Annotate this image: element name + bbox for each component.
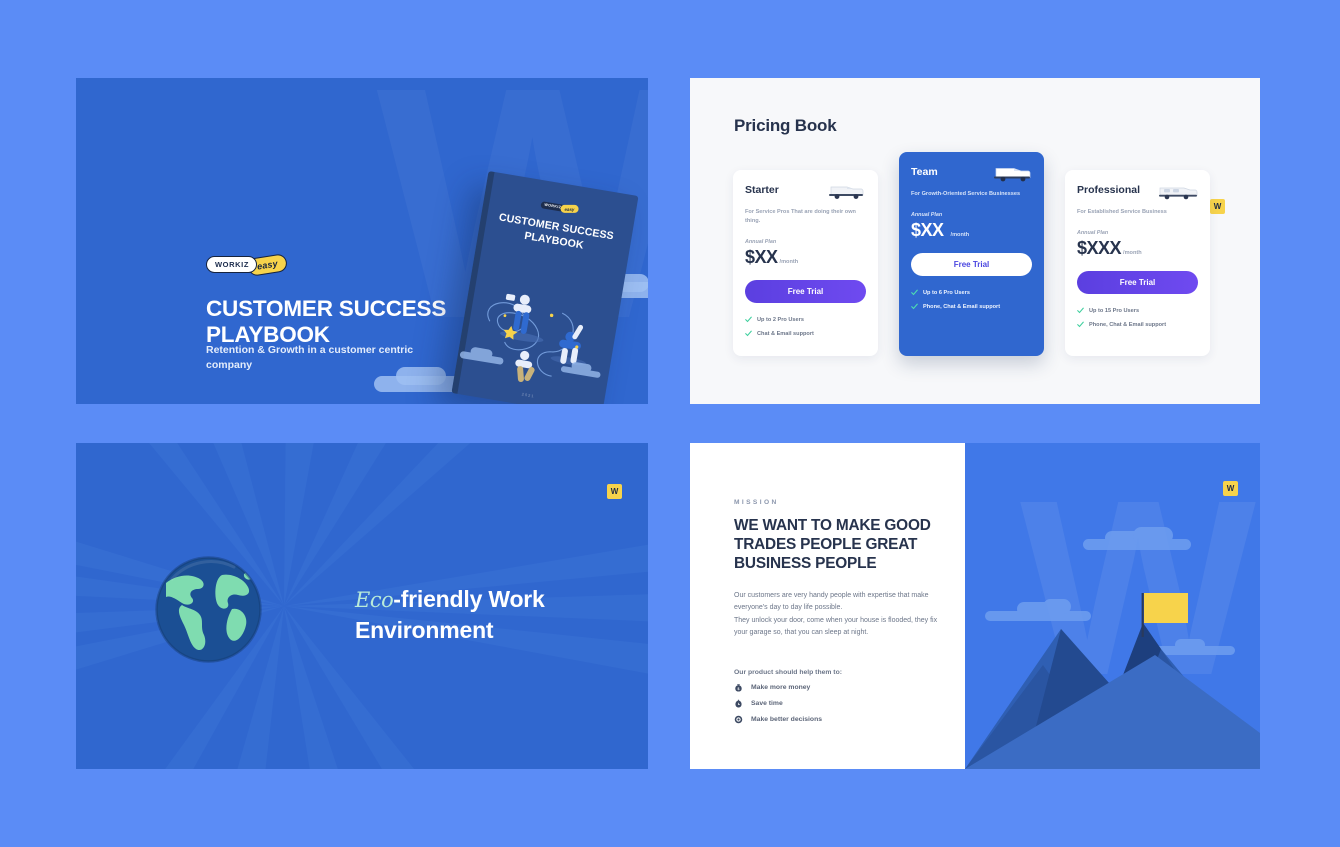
plan-feature: Chat & Email support [745,330,866,337]
plan-feature-label: Phone, Chat & Email support [1089,322,1166,328]
people-jumping-illustration [455,258,624,399]
mountain-illustration [965,443,1260,769]
plan-feature: Up to 15 Pro Users [1077,307,1198,314]
list-item-label: Make more money [751,684,810,691]
plan-price: $XX [911,220,944,241]
list-item: $ Make more money [734,683,822,692]
list-item: Save time [734,699,822,708]
plan-feature-list: Up to 6 Pro Users Phone, Chat & Email su… [911,289,1032,310]
book-artwork [455,258,624,399]
cloud-shape [396,367,446,385]
book-logo: WORKIZ easy [540,200,579,214]
plan-feature: Phone, Chat & Email support [911,303,1032,310]
plan-period-label: Annual Plan [911,212,1032,218]
check-icon [911,303,918,310]
mission-body: Our customers are very handy people with… [734,590,949,640]
workiz-w-badge-icon: W [1210,199,1225,214]
svg-text:$: $ [738,687,740,691]
eco-headline-script: Eco [355,588,393,612]
plan-feature-label: Up to 15 Pro Users [1089,308,1139,314]
plan-description: For Growth-Oriented Service Businesses [911,190,1032,199]
free-trial-button[interactable]: Free Trial [745,280,866,303]
pricing-card-list: Starter For Service Pros That are doing … [733,170,1210,356]
pricing-card-team[interactable]: Team For Growth-Oriented Service Busines… [899,152,1044,356]
card-header: Team [911,166,1032,182]
pricing-card-professional[interactable]: Professional For Established Service Bus… [1065,170,1210,356]
plan-price-row: $XX /month [745,247,866,268]
cover-slide: W WORKIZ easy CUSTOMER SUCCESS PLAYBOOK … [76,78,648,404]
plan-name: Starter [745,184,779,196]
plan-period-label: Annual Plan [745,239,866,245]
plan-feature: Up to 2 Pro Users [745,316,866,323]
check-icon [1077,321,1084,328]
plan-price-period: /month [1123,250,1142,256]
logo-workiz-text: WORKIZ [206,256,257,273]
mission-slide: MISSION WE WANT TO MAKE GOOD TRADES PEOP… [690,443,967,769]
pricing-card-starter[interactable]: Starter For Service Pros That are doing … [733,170,878,356]
van-icon [826,184,866,200]
plan-price-period: /month [951,232,970,238]
clock-icon [734,699,743,708]
plan-description: For Established Service Business [1077,208,1198,217]
plan-period-label: Annual Plan [1077,230,1198,236]
mission-kicker: MISSION [734,499,779,506]
plan-feature-label: Up to 6 Pro Users [923,290,970,296]
money-bag-icon: $ [734,683,743,692]
list-item: Make better decisions [734,715,822,724]
plan-price-period: /month [780,259,799,265]
eco-headline: Eco-friendly Work Environment [355,584,635,646]
globe-icon [152,553,265,666]
van-icon [992,166,1032,182]
mission-benefit-list: $ Make more money Save time Make better … [734,683,822,731]
target-icon [734,715,743,724]
plan-price: $XX [745,247,778,268]
plan-name: Professional [1077,184,1140,196]
plan-feature-label: Chat & Email support [757,331,814,337]
pricing-slide: Pricing Book W Starter For Serv [690,78,1260,404]
check-icon [1077,307,1084,314]
plan-feature-list: Up to 2 Pro Users Chat & Email support [745,316,866,337]
plan-name: Team [911,166,938,178]
page-title: Pricing Book [734,116,836,136]
card-header: Professional [1077,184,1198,200]
mission-list-lead: Our product should help them to: [734,669,842,676]
plan-feature: Phone, Chat & Email support [1077,321,1198,328]
list-item-label: Save time [751,700,783,707]
check-icon [745,316,752,323]
plan-feature-list: Up to 15 Pro Users Phone, Chat & Email s… [1077,307,1198,328]
plan-feature: Up to 6 Pro Users [911,289,1032,296]
plan-price-row: $XXX /month [1077,238,1198,259]
check-icon [911,289,918,296]
plan-description: For Service Pros That are doing their ow… [745,208,866,226]
plan-feature-label: Phone, Chat & Email support [923,304,1000,310]
plan-price-row: $XX /month [911,220,1032,241]
workiz-w-badge-icon: W [607,484,622,499]
book-illustration: WORKIZ easy CUSTOMER SUCCESS PLAYBOOK [469,182,648,404]
check-icon [745,330,752,337]
book-logo-easy: easy [561,205,579,213]
workiz-easy-logo: WORKIZ easy [206,256,287,273]
plan-price: $XXX [1077,238,1121,259]
slide-deck-overview: W WORKIZ easy CUSTOMER SUCCESS PLAYBOOK … [0,0,1340,847]
free-trial-button[interactable]: Free Trial [1077,271,1198,294]
mission-title: WE WANT TO MAKE GOOD TRADES PEOPLE GREAT… [734,517,954,573]
book-title: CUSTOMER SUCCESS PLAYBOOK [478,208,633,261]
plan-feature-label: Up to 2 Pro Users [757,317,804,323]
free-trial-button[interactable]: Free Trial [911,253,1032,276]
list-item-label: Make better decisions [751,716,822,723]
mountain-slide: W W [965,443,1260,769]
card-header: Starter [745,184,866,200]
book-cover: WORKIZ easy CUSTOMER SUCCESS PLAYBOOK [451,171,638,404]
van-icon [1158,184,1198,200]
